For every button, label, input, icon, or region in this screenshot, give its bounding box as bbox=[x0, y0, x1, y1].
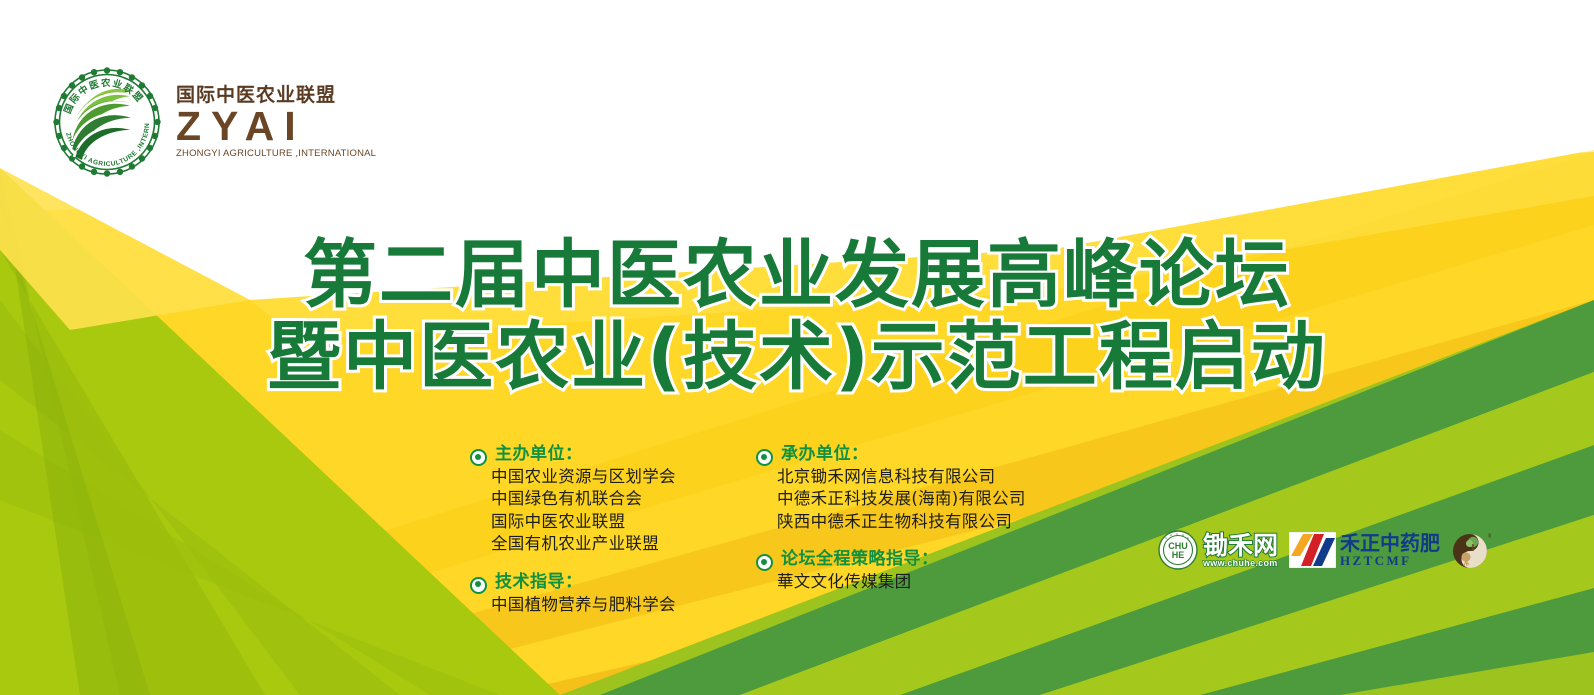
credit-heading-row: 技术指导： bbox=[470, 572, 734, 594]
sponsor-logo-hztcmf: 禾正中药肥 HZTCMF bbox=[1289, 532, 1440, 568]
hztcmf-name-cn: 禾正中药肥 bbox=[1340, 533, 1440, 553]
credit-line: 中国植物营养与肥料学会 bbox=[491, 594, 734, 616]
credits-block: 主办单位： 中国农业资源与区划学会 中国绿色有机联合会 国际中医农业联盟 全国有… bbox=[470, 444, 1056, 616]
credit-heading-row: 主办单位： bbox=[470, 444, 734, 466]
zyai-seal-icon: 国际中医农业联盟 ZHONGYI AGRICULTURE ,INTERNATIO… bbox=[52, 66, 162, 178]
credit-heading: 承办单位： bbox=[781, 444, 869, 466]
credit-heading: 技术指导： bbox=[495, 572, 583, 594]
credit-line: 中德禾正科技发展(海南)有限公司 bbox=[777, 488, 1056, 510]
credit-line: 陕西中德禾正生物科技有限公司 bbox=[777, 511, 1056, 533]
credit-line: 全国有机农业产业联盟 bbox=[491, 533, 734, 555]
credits-column-left: 主办单位： 中国农业资源与区划学会 中国绿色有机联合会 国际中医农业联盟 全国有… bbox=[470, 444, 734, 616]
chuhe-wordmark: 锄禾网 www.chuhe.com bbox=[1203, 533, 1278, 568]
bullet-icon bbox=[756, 554, 773, 571]
credit-line: 北京锄禾网信息科技有限公司 bbox=[777, 466, 1056, 488]
svg-text:H: H bbox=[1170, 533, 1172, 537]
title-line-2: 暨中医农业(技术)示范工程启动 bbox=[0, 318, 1594, 396]
svg-text:HE: HE bbox=[1172, 550, 1185, 560]
credit-line: 華文文化传媒集团 bbox=[777, 571, 1056, 593]
svg-text:H: H bbox=[1182, 533, 1184, 537]
sponsor-logo-seedling: ® bbox=[1451, 530, 1491, 570]
hztcmf-mark-icon bbox=[1289, 532, 1336, 568]
title-line-1: 第二届中医农业发展高峰论坛 bbox=[0, 236, 1594, 314]
credits-column-right: 承办单位： 北京锄禾网信息科技有限公司 中德禾正科技发展(海南)有限公司 陕西中… bbox=[756, 444, 1056, 616]
svg-text:U: U bbox=[1176, 532, 1178, 536]
credit-line: 中国绿色有机联合会 bbox=[491, 488, 734, 510]
bullet-icon bbox=[470, 449, 487, 466]
hztcmf-wordmark: 禾正中药肥 HZTCMF bbox=[1340, 533, 1440, 567]
org-name-en: ZHONGYI AGRICULTURE ,INTERNATIONAL bbox=[176, 149, 376, 159]
credit-group: 论坛全程策略指导： 華文文化传媒集团 bbox=[756, 549, 1056, 593]
credit-group: 技术指导： 中国植物营养与肥料学会 bbox=[470, 572, 734, 616]
credit-heading-row: 承办单位： bbox=[756, 444, 1056, 466]
org-name-cn: 国际中医农业联盟 bbox=[176, 86, 376, 105]
chuhe-name: 锄禾网 bbox=[1203, 533, 1278, 558]
bullet-icon bbox=[470, 577, 487, 594]
chuhe-url: www.chuhe.com bbox=[1203, 559, 1278, 568]
sponsor-logo-row: CHU HE CHU HE 锄禾网 www.chuhe.com bbox=[1158, 530, 1491, 570]
hztcmf-name-en: HZTCMF bbox=[1340, 554, 1440, 567]
organization-logo: 国际中医农业联盟 ZHONGYI AGRICULTURE ,INTERNATIO… bbox=[52, 66, 376, 178]
credit-line: 国际中医农业联盟 bbox=[491, 511, 734, 533]
sponsor-logo-chuhe: CHU HE CHU HE 锄禾网 www.chuhe.com bbox=[1158, 530, 1278, 570]
credit-line: 中国农业资源与区划学会 bbox=[491, 466, 734, 488]
bullet-icon bbox=[756, 449, 773, 466]
chuhe-seal-icon: CHU HE CHU HE bbox=[1158, 530, 1198, 570]
credit-group: 主办单位： 中国农业资源与区划学会 中国绿色有机联合会 国际中医农业联盟 全国有… bbox=[470, 444, 734, 556]
credit-heading: 论坛全程策略指导： bbox=[781, 549, 939, 571]
org-acronym: ZYAI bbox=[176, 107, 376, 146]
credit-heading-row: 论坛全程策略指导： bbox=[756, 549, 1056, 571]
seedling-registered-mark: ® bbox=[1488, 533, 1491, 540]
seedling-seal-icon: ® bbox=[1451, 530, 1491, 570]
credit-group: 承办单位： 北京锄禾网信息科技有限公司 中德禾正科技发展(海南)有限公司 陕西中… bbox=[756, 444, 1056, 533]
organization-logo-text: 国际中医农业联盟 ZYAI ZHONGYI AGRICULTURE ,INTER… bbox=[176, 86, 376, 159]
svg-text:E: E bbox=[1187, 536, 1189, 540]
poster-title: 第二届中医农业发展高峰论坛 暨中医农业(技术)示范工程启动 bbox=[0, 236, 1594, 397]
credit-heading: 主办单位： bbox=[495, 444, 583, 466]
poster-canvas: 国际中医农业联盟 ZHONGYI AGRICULTURE ,INTERNATIO… bbox=[0, 0, 1594, 695]
